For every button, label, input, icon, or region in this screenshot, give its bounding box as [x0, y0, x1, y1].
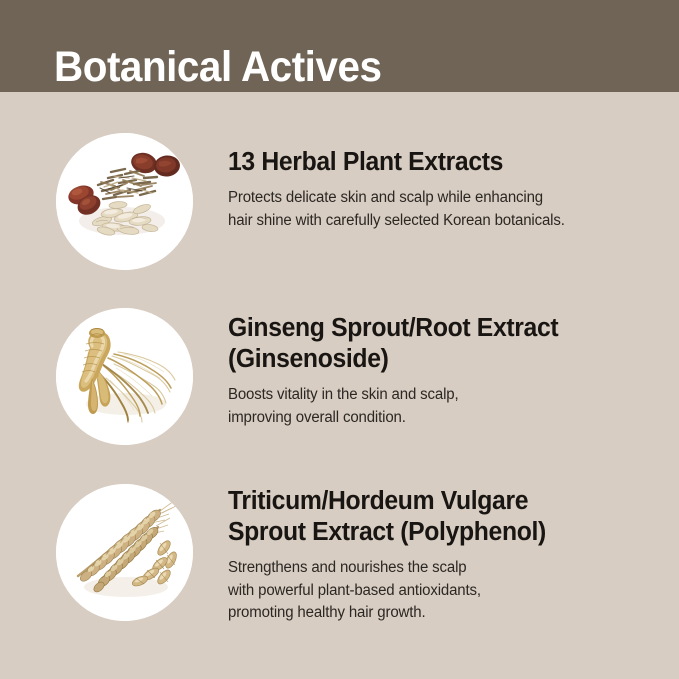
feature-description: Protects delicate skin and scalp while e… — [228, 187, 647, 232]
header-band: Botanical Actives — [0, 0, 679, 92]
feature-title: 13 Herbal Plant Extracts — [228, 147, 645, 178]
feature-title-line: Ginseng Sprout/Root Extract — [228, 314, 558, 342]
feature-title-line: 13 Herbal Plant Extracts — [228, 148, 503, 176]
dried-herbs-jujube-photo — [56, 133, 193, 270]
feature-title: Triticum/Hordeum VulgareSprout Extract (… — [228, 486, 645, 548]
feature-description-line: with powerful plant-based antioxidants, — [228, 582, 481, 599]
feature-description-line: promoting healthy hair growth. — [228, 604, 425, 621]
feature-text-block: Triticum/Hordeum VulgareSprout Extract (… — [228, 486, 658, 625]
botanical-actives-infographic: Botanical Actives — [0, 0, 679, 679]
feature-description-line: hair shine with carefully selected Korea… — [228, 212, 565, 229]
feature-title-line: Triticum/Hordeum Vulgare — [228, 487, 528, 515]
feature-description: Strengthens and nourishes the scalpwith … — [228, 557, 647, 625]
feature-description-line: Protects delicate skin and scalp while e… — [228, 189, 543, 206]
feature-description-line: improving overall condition. — [228, 409, 406, 426]
wheat-barley-ears-photo — [56, 484, 193, 621]
feature-description-line: Strengthens and nourishes the scalp — [228, 559, 466, 576]
ginseng-root-photo — [56, 308, 193, 445]
feature-title-line: Sprout Extract (Polyphenol) — [228, 518, 546, 546]
feature-title: Ginseng Sprout/Root Extract(Ginsenoside) — [228, 313, 645, 375]
feature-description-line: Boosts vitality in the skin and scalp, — [228, 386, 458, 403]
page-title: Botanical Actives — [54, 42, 381, 92]
feature-description: Boosts vitality in the skin and scalp,im… — [228, 384, 647, 429]
feature-title-line: (Ginsenoside) — [228, 345, 389, 373]
feature-text-block: 13 Herbal Plant Extracts Protects delica… — [228, 147, 658, 232]
feature-text-block: Ginseng Sprout/Root Extract(Ginsenoside)… — [228, 313, 658, 429]
